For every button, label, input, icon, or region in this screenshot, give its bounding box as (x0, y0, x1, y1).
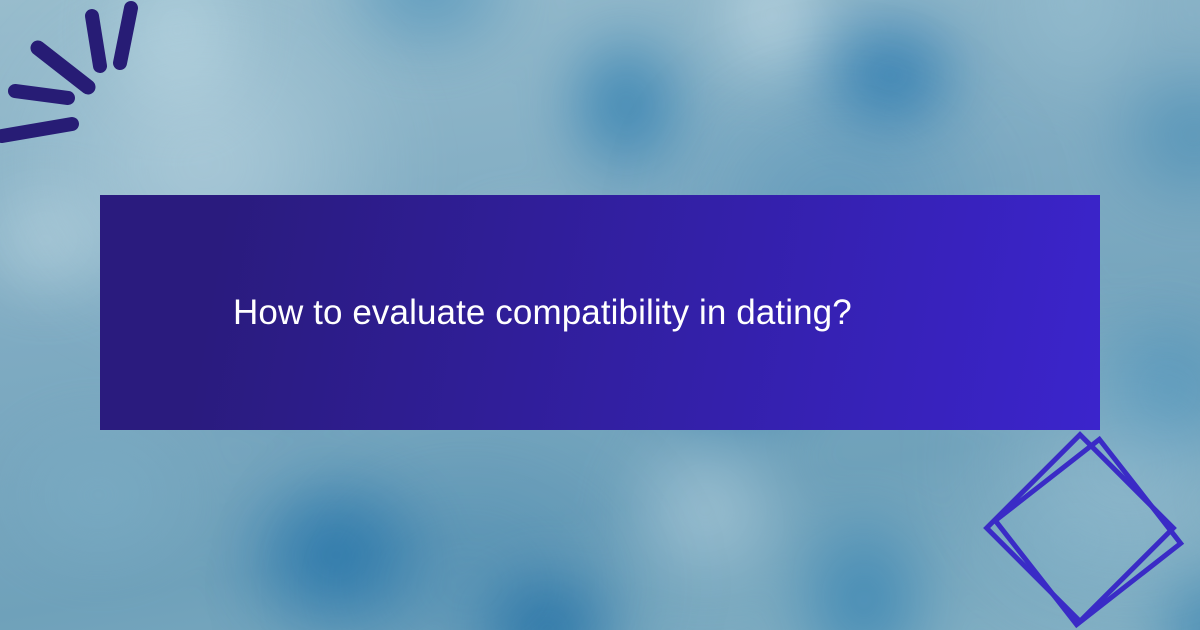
diamond-outline-2 (995, 439, 1180, 624)
diamond-outline-decoration (960, 420, 1200, 630)
diamond-outline-1 (987, 435, 1174, 622)
burst-dash-1 (120, 8, 131, 63)
burst-dash-5 (2, 124, 72, 136)
social-card-canvas: How to evaluate compatibility in dating? (0, 0, 1200, 630)
headline-banner: How to evaluate compatibility in dating? (100, 195, 1100, 430)
burst-dash-2 (92, 16, 100, 66)
sparkle-burst-decoration (0, 0, 175, 150)
page-title: How to evaluate compatibility in dating? (100, 292, 892, 334)
burst-dash-3 (38, 48, 88, 87)
burst-dash-4 (15, 91, 68, 98)
